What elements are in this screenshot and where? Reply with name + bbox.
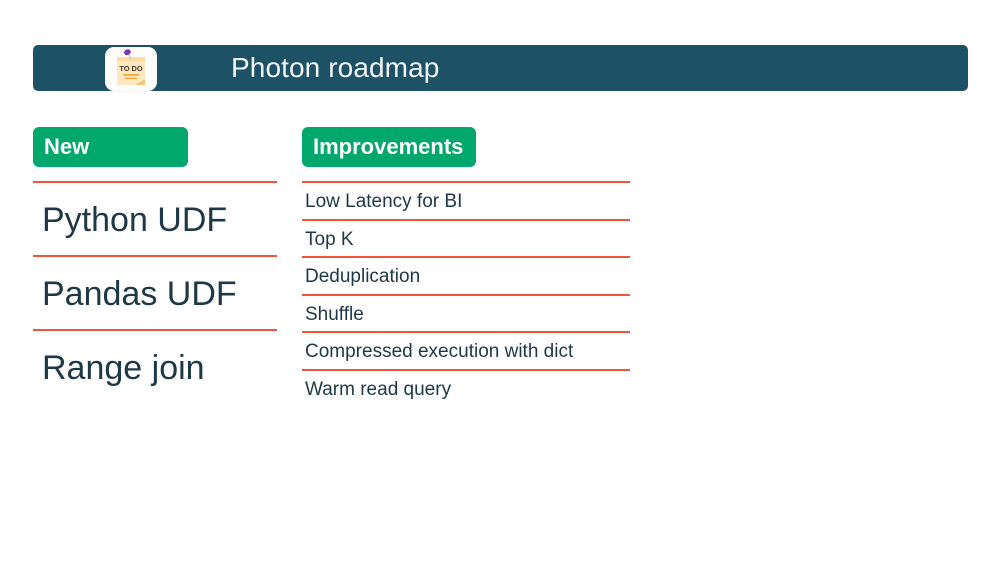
todo-sticky-note-icon: TO DO [105,47,157,91]
list-item[interactable]: Pandas UDF [33,255,277,329]
list-item[interactable]: Range join [33,329,277,403]
svg-text:TO DO: TO DO [119,64,143,73]
column-new: New Python UDF Pandas UDF Range join [33,127,277,403]
list-item[interactable]: Warm read query [302,369,630,407]
column-improvements: Improvements Low Latency for BI Top K De… [302,127,630,406]
page-title: Photon roadmap [231,45,439,91]
list-item[interactable]: Shuffle [302,294,630,332]
list-item[interactable]: Top K [302,219,630,257]
column-badge-improvements: Improvements [302,127,476,167]
list-item[interactable]: Deduplication [302,256,630,294]
list-item[interactable]: Compressed execution with dict [302,331,630,369]
improvements-items-list: Low Latency for BI Top K Deduplication S… [302,181,630,406]
column-badge-new: New [33,127,188,167]
header-bar: TO DO Photon roadmap [33,45,968,91]
new-items-list: Python UDF Pandas UDF Range join [33,181,277,403]
list-item[interactable]: Low Latency for BI [302,181,630,219]
list-item[interactable]: Python UDF [33,181,277,255]
